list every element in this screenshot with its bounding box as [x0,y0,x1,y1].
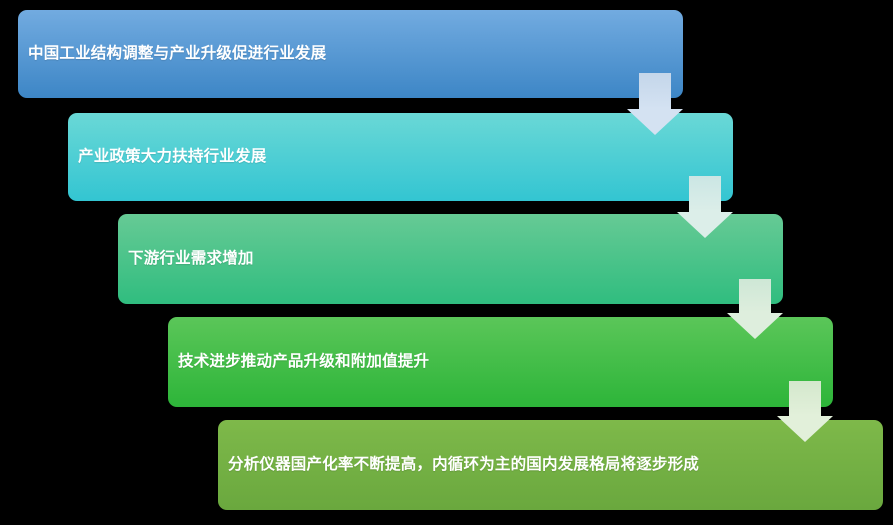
flow-step-label-3: 下游行业需求增加 [118,247,268,271]
flow-step-box-5[interactable]: 分析仪器国产化率不断提高，内循环为主的国内发展格局将逐步形成 [218,420,883,510]
flow-step-box-4[interactable]: 技术进步推动产品升级和附加值提升 [168,317,833,407]
flow-step-label-1: 中国工业结构调整与产业升级促进行业发展 [18,42,340,66]
flow-step-box-2[interactable]: 产业政策大力扶持行业发展 [68,113,733,201]
flow-step-label-5: 分析仪器国产化率不断提高，内循环为主的国内发展格局将逐步形成 [218,453,819,477]
flow-step-label-2: 产业政策大力扶持行业发展 [68,145,280,169]
flow-diagram-canvas: 中国工业结构调整与产业升级促进行业发展 产业政策大力扶持行业发展 下游行业需求增… [0,0,893,525]
flow-step-box-1[interactable]: 中国工业结构调整与产业升级促进行业发展 [18,10,683,98]
flow-step-label-4: 技术进步推动产品升级和附加值提升 [168,350,443,374]
flow-step-box-3[interactable]: 下游行业需求增加 [118,214,783,304]
